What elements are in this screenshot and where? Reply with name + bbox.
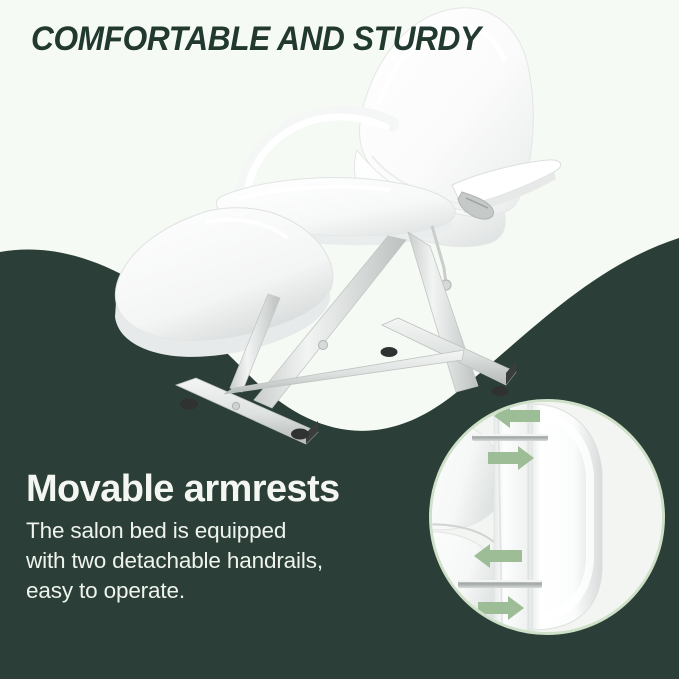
feature-body-line-2: with two detachable handrails,: [26, 546, 386, 576]
feature-body-line-3: easy to operate.: [26, 576, 386, 606]
product-feature-card: COMFORTABLE AND STURDY Movable armrests …: [0, 0, 679, 679]
feature-title: Movable armrests: [26, 466, 386, 512]
lower-slide-rail: [458, 580, 542, 588]
feature-body: The salon bed is equipped with two detac…: [26, 516, 386, 606]
feature-body-line-1: The salon bed is equipped: [26, 516, 386, 546]
headline: COMFORTABLE AND STURDY: [31, 19, 481, 59]
upper-slide-rail: [472, 434, 548, 441]
feature-copy-block: Movable armrests The salon bed is equipp…: [26, 466, 386, 606]
armrest-closeup-image: [432, 402, 662, 632]
armrest-closeup-inset: [429, 399, 665, 635]
